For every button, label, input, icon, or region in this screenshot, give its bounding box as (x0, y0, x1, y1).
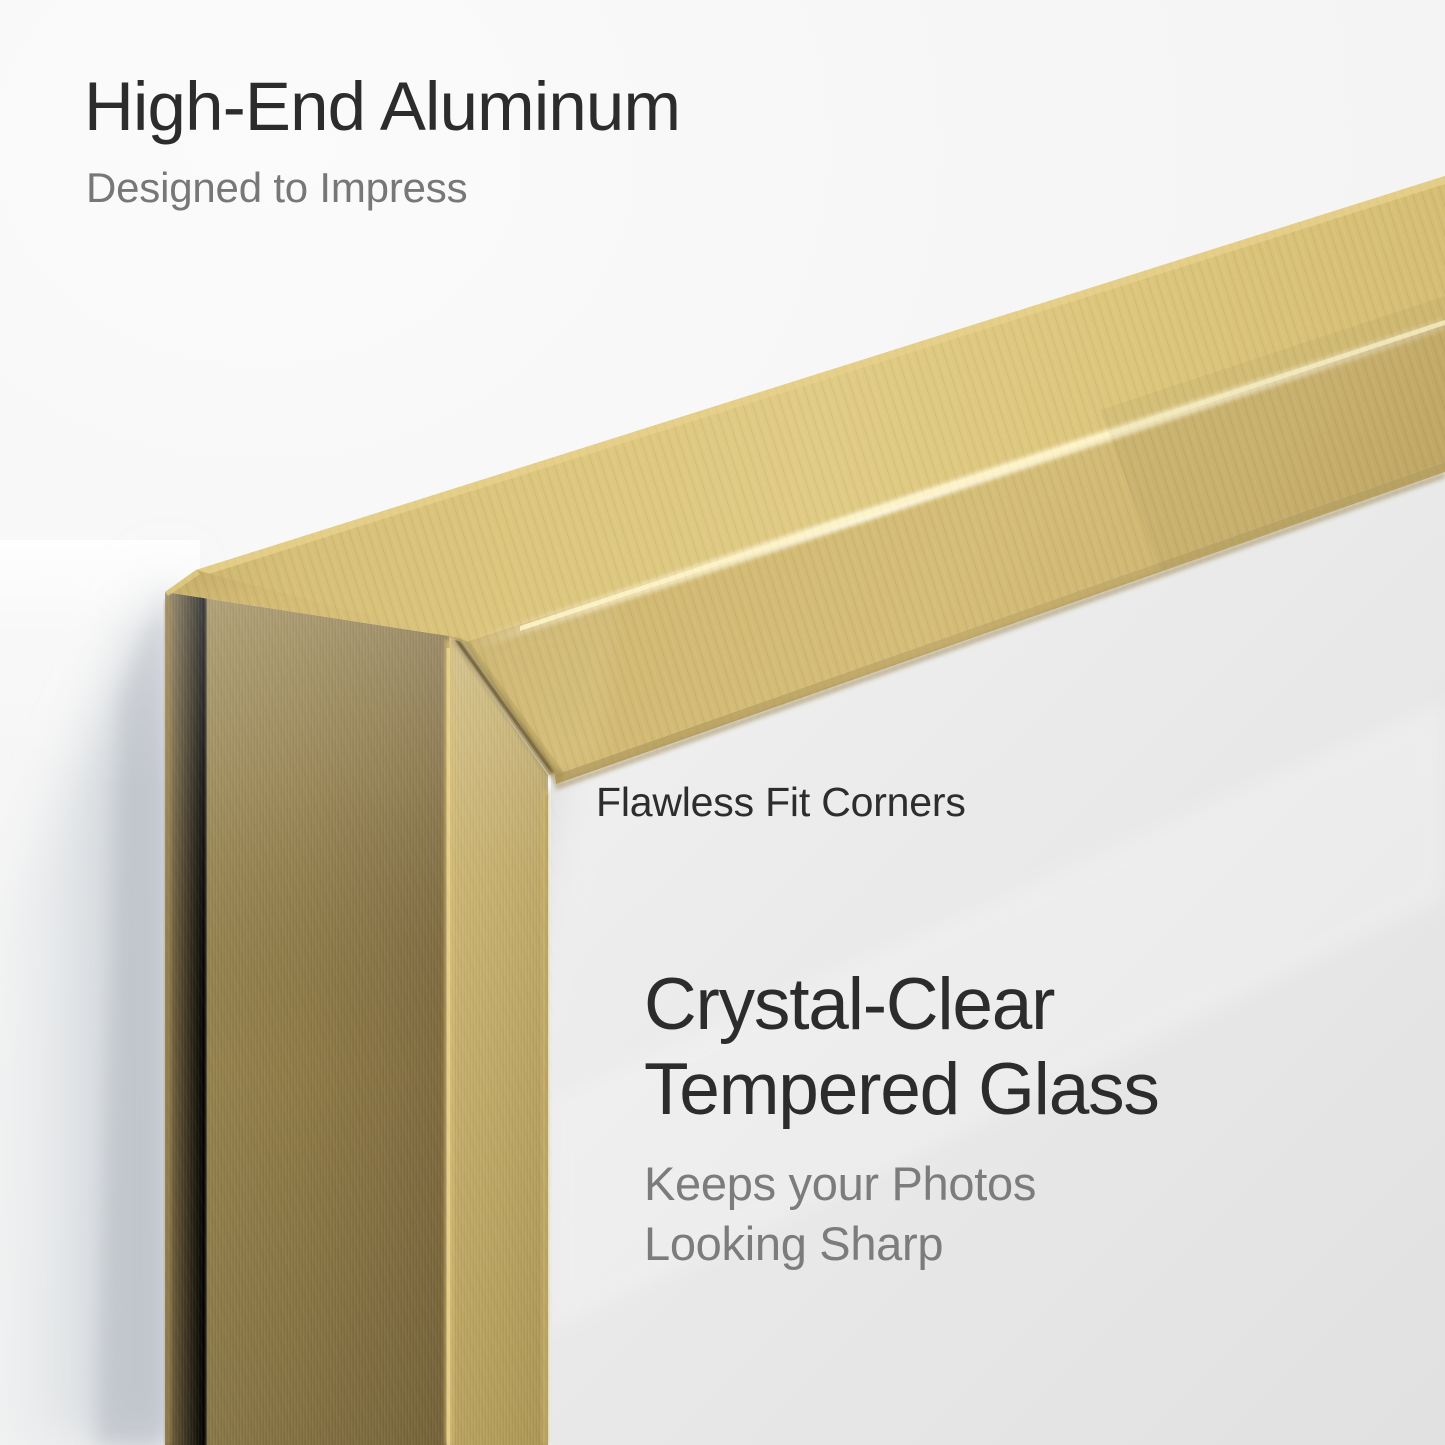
product-feature-image: High-End Aluminum Designed to Impress Fl… (0, 0, 1445, 1445)
page-title: High-End Aluminum (84, 72, 1084, 142)
glass-subtitle-line-1: Keeps your Photos (644, 1154, 1404, 1214)
glass-title-line-2: Tempered Glass (644, 1048, 1404, 1133)
callout-flawless-fit-corners: Flawless Fit Corners (596, 779, 966, 826)
callout-glass-block: Crystal-Clear Tempered Glass Keeps your … (644, 963, 1404, 1274)
glass-title-line-1: Crystal-Clear (644, 963, 1404, 1048)
glass-subtitle-line-2: Looking Sharp (644, 1214, 1404, 1274)
page-subtitle: Designed to Impress (86, 166, 1084, 210)
header-text-block: High-End Aluminum Designed to Impress (84, 72, 1084, 210)
